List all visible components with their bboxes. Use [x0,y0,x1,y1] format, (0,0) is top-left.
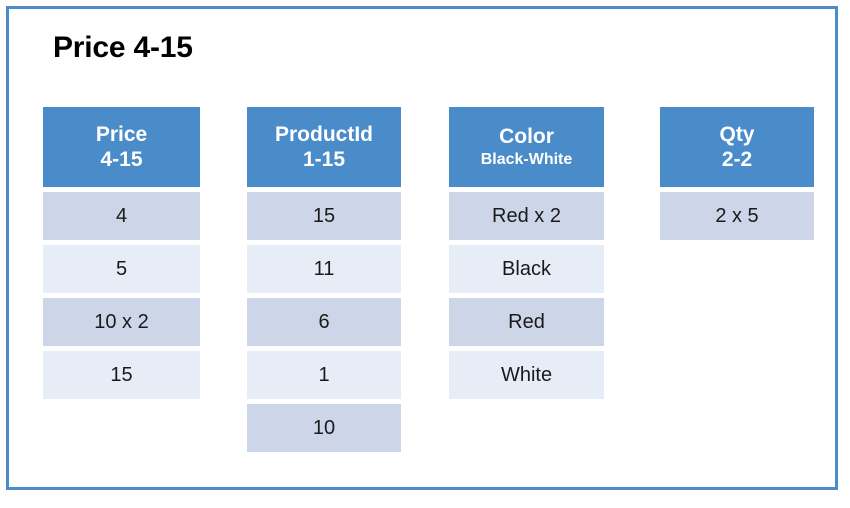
column-header-range: 4-15 [100,147,142,172]
table-cell[interactable]: 4 [43,192,200,240]
table-cell[interactable]: 1 [247,351,401,399]
table-column: Price4-154510 x 215 [43,107,200,404]
column-header[interactable]: ColorBlack-White [449,107,604,187]
table-cell[interactable]: White [449,351,604,399]
table-cell[interactable]: 2 x 5 [660,192,814,240]
column-header[interactable]: Price4-15 [43,107,200,187]
table-column: Qty2-22 x 5 [660,107,814,245]
table-cell[interactable]: 5 [43,245,200,293]
column-header-range: 1-15 [303,147,345,172]
page-title: Price 4-15 [53,31,193,65]
table-cell[interactable]: 15 [247,192,401,240]
table-cell[interactable]: Red x 2 [449,192,604,240]
column-header-title: Price [96,122,147,147]
table-cell[interactable]: Black [449,245,604,293]
table-column: ColorBlack-WhiteRed x 2BlackRedWhite [449,107,604,404]
column-header-title: ProductId [275,122,373,147]
table-cell[interactable]: 15 [43,351,200,399]
table-cell[interactable]: Red [449,298,604,346]
table-cell[interactable]: 6 [247,298,401,346]
column-header-range: 2-2 [722,147,752,172]
column-header-range: Black-White [481,149,573,170]
column-header-title: Qty [719,122,754,147]
column-header-title: Color [499,124,554,149]
slide-frame: Price 4-15 Price4-154510 x 215ProductId1… [6,6,838,490]
table-cell[interactable]: 10 [247,404,401,452]
table-cell[interactable]: 10 x 2 [43,298,200,346]
column-header[interactable]: Qty2-2 [660,107,814,187]
table-column: ProductId1-1515116110 [247,107,401,457]
column-group: Price4-154510 x 215ProductId1-1515116110… [43,107,833,477]
column-header[interactable]: ProductId1-15 [247,107,401,187]
table-cell[interactable]: 11 [247,245,401,293]
